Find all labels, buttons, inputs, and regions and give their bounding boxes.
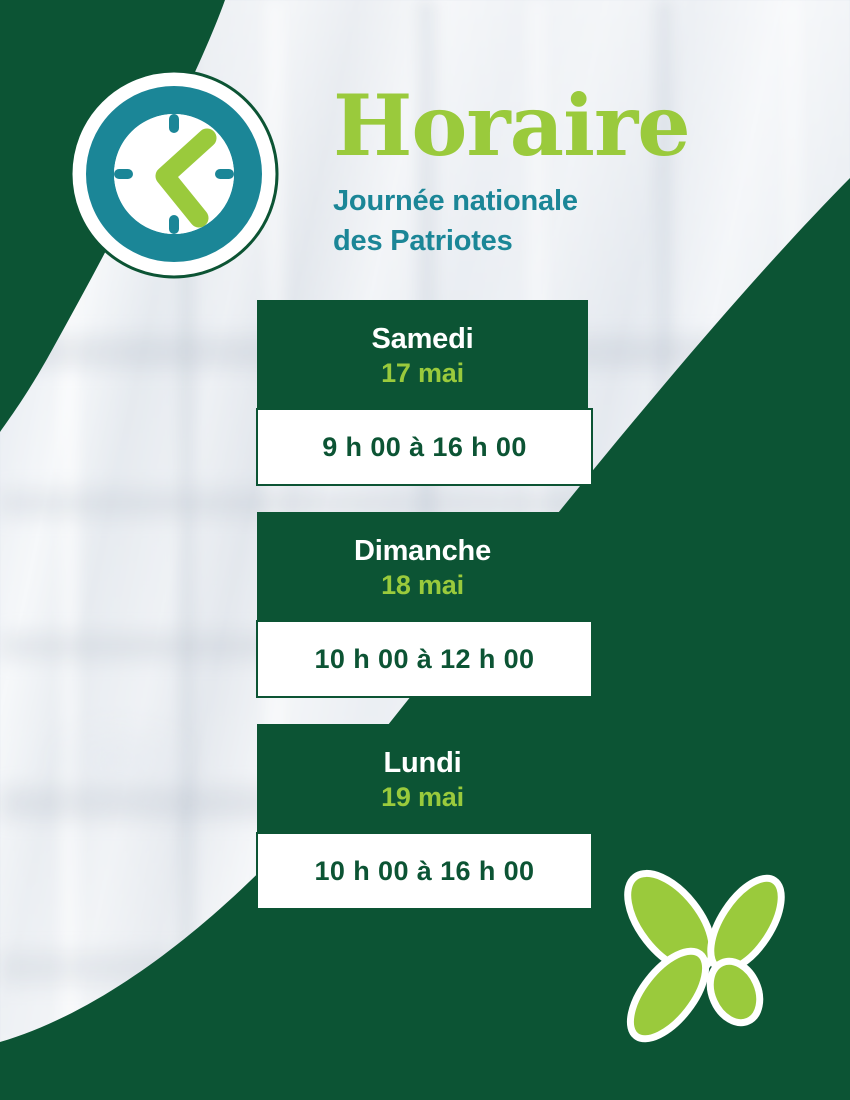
subtitle-line-1: Journée nationale	[333, 185, 578, 217]
card-date-label: 17 mai	[381, 357, 464, 390]
butterfly-logo-icon	[612, 862, 802, 1052]
clock-icon	[68, 68, 280, 280]
card-body: 10 h 00 à 16 h 00	[256, 832, 593, 910]
card-day-label: Dimanche	[354, 534, 491, 568]
card-body: 9 h 00 à 16 h 00	[256, 408, 593, 486]
card-day-label: Samedi	[372, 322, 474, 356]
card-header: Lundi 19 mai	[257, 724, 588, 832]
poster-canvas: Horaire Journée nationale des Patriotes …	[0, 0, 850, 1100]
page-title: Horaire	[333, 86, 803, 167]
card-hours-label: 10 h 00 à 12 h 00	[315, 644, 535, 675]
card-date-label: 19 mai	[381, 781, 464, 814]
subtitle-line-2: des Patriotes	[333, 225, 513, 257]
card-header: Dimanche 18 mai	[257, 512, 588, 620]
schedule-card-monday: Lundi 19 mai 10 h 00 à 16 h 00	[257, 724, 594, 910]
heading-block: Horaire Journée nationale des Patriotes	[333, 86, 803, 261]
card-hours-label: 10 h 00 à 16 h 00	[315, 856, 535, 887]
card-hours-label: 9 h 00 à 16 h 00	[322, 432, 527, 463]
card-body: 10 h 00 à 12 h 00	[256, 620, 593, 698]
schedule-card-sunday: Dimanche 18 mai 10 h 00 à 12 h 00	[257, 512, 594, 698]
card-date-label: 18 mai	[381, 569, 464, 602]
card-header: Samedi 17 mai	[257, 300, 588, 408]
schedule-card-saturday: Samedi 17 mai 9 h 00 à 16 h 00	[257, 300, 594, 486]
page-subtitle: Journée nationale des Patriotes	[333, 181, 803, 261]
card-day-label: Lundi	[384, 746, 462, 780]
